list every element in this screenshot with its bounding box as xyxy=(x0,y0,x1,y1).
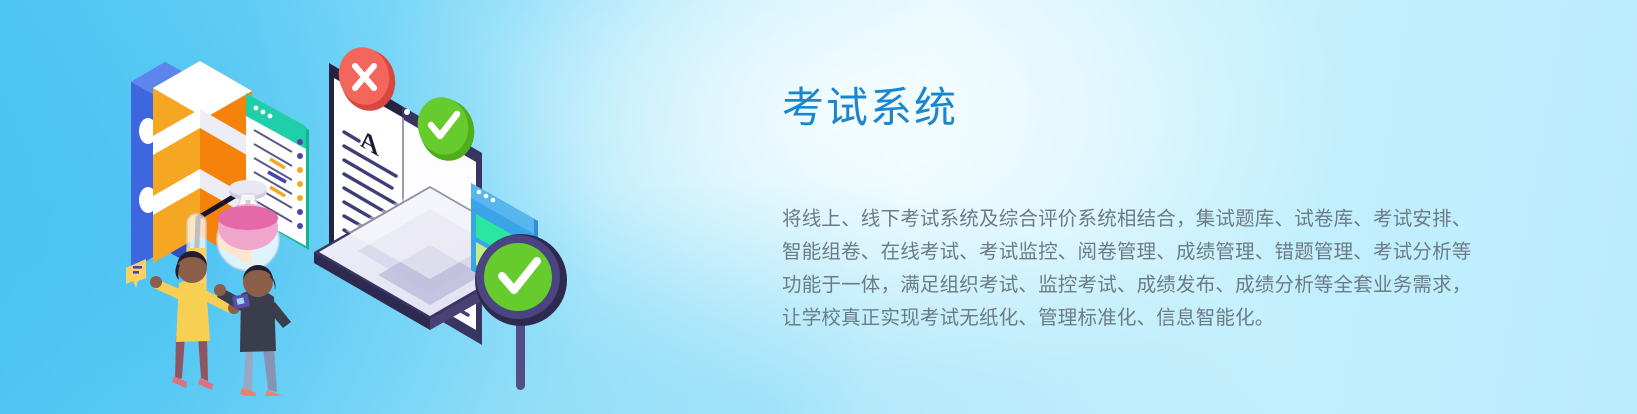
page-title: 考试系统 xyxy=(782,84,1502,132)
man-in-dark-hoodie xyxy=(214,265,291,396)
banner-description: 将线上、线下考试系统及综合评价系统相结合，集试题库、试卷库、考试安排、 智能组卷… xyxy=(782,132,1502,334)
description-line: 让学校真正实现考试无纸化、管理标准化、信息智能化。 xyxy=(782,301,1502,334)
exam-system-isometric-illustration: A B xyxy=(78,18,608,396)
exam-system-banner: A B xyxy=(0,0,1637,414)
magnifier-with-green-check xyxy=(475,234,567,390)
banner-copy: 考试系统 将线上、线下考试系统及综合评价系统相结合，集试题库、试卷库、考试安排、… xyxy=(782,84,1502,334)
woman-in-yellow-dress xyxy=(126,251,240,390)
description-line: 功能于一体，满足组织考试、监控考试、成绩发布、成绩分析等全套业务需求， xyxy=(782,268,1502,301)
description-line: 将线上、线下考试系统及综合评价系统相结合，集试题库、试卷库、考试安排、 xyxy=(782,202,1502,235)
description-line: 智能组卷、在线考试、考试监控、阅卷管理、成绩管理、错题管理、考试分析等 xyxy=(782,235,1502,268)
